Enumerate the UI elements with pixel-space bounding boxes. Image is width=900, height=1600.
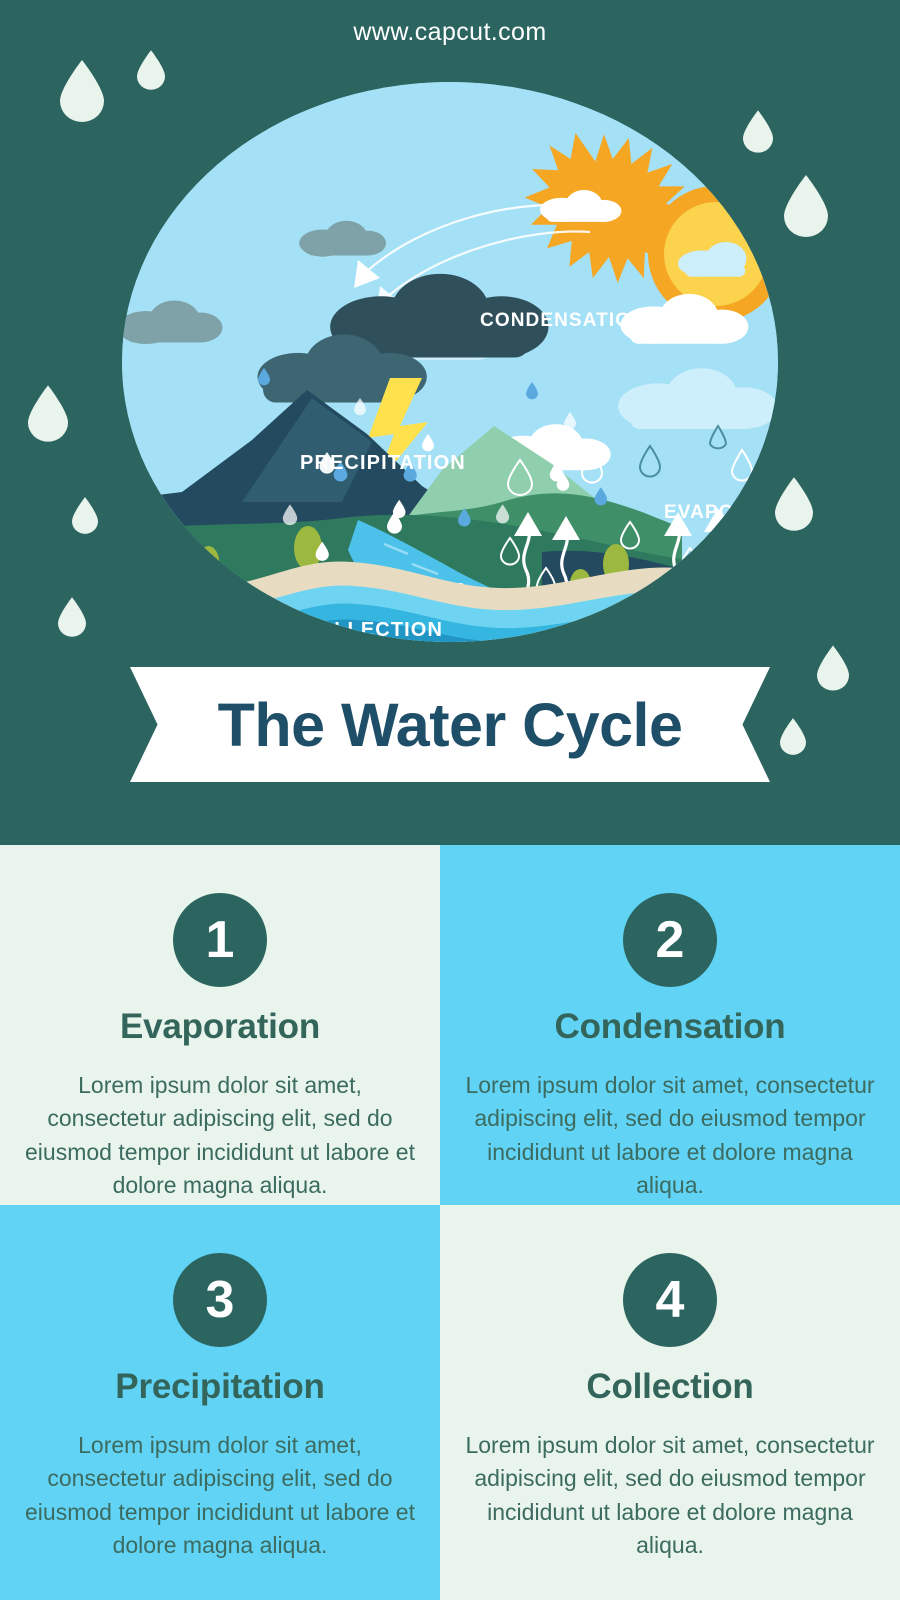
decorative-drop-icon bbox=[743, 110, 773, 153]
step-title: Evaporation bbox=[22, 1007, 418, 1047]
hero-section: www.capcut.com bbox=[0, 0, 900, 845]
scene-label-evaporation: EVAPORATION bbox=[664, 502, 778, 524]
decorative-drop-icon bbox=[775, 477, 813, 531]
step-title: Condensation bbox=[462, 1007, 878, 1047]
step-card-collection: 4 Collection Lorem ipsum dolor sit amet,… bbox=[440, 1205, 900, 1600]
step-description: Lorem ipsum dolor sit amet, consectetur … bbox=[462, 1069, 878, 1202]
step-number-badge: 2 bbox=[623, 893, 717, 987]
step-number-badge: 4 bbox=[623, 1253, 717, 1347]
decorative-drop-icon bbox=[58, 597, 86, 637]
page-title: The Water Cycle bbox=[130, 667, 770, 782]
decorative-drop-icon bbox=[817, 645, 849, 691]
step-card-evaporation: 1 Evaporation Lorem ipsum dolor sit amet… bbox=[0, 845, 440, 1205]
scene-label-collection: COLLECTION bbox=[302, 619, 443, 642]
steps-grid: 1 Evaporation Lorem ipsum dolor sit amet… bbox=[0, 845, 900, 1600]
decorative-drop-icon bbox=[60, 60, 104, 122]
step-number-badge: 3 bbox=[173, 1253, 267, 1347]
scene-label-condensation: CONDENSATION bbox=[480, 310, 646, 332]
decorative-drop-icon bbox=[780, 718, 806, 755]
scene-label-precipitation: PRECIPITATION bbox=[300, 452, 466, 475]
step-title: Collection bbox=[462, 1367, 878, 1407]
step-description: Lorem ipsum dolor sit amet, consectetur … bbox=[22, 1429, 418, 1562]
step-title: Precipitation bbox=[22, 1367, 418, 1407]
left-hill-shape bbox=[122, 512, 162, 642]
infographic-page: www.capcut.com bbox=[0, 0, 900, 1600]
scene-svg bbox=[122, 82, 778, 642]
water-cycle-illustration: CONDENSATION PRECIPITATION EVAPORATION C… bbox=[122, 82, 778, 642]
decorative-drop-icon bbox=[72, 497, 98, 534]
decorative-drop-icon bbox=[784, 175, 828, 237]
decorative-drop-icon bbox=[137, 50, 165, 90]
title-banner: The Water Cycle bbox=[130, 667, 770, 782]
step-number-badge: 1 bbox=[173, 893, 267, 987]
step-description: Lorem ipsum dolor sit amet, consectetur … bbox=[462, 1429, 878, 1562]
site-url-label: www.capcut.com bbox=[0, 18, 900, 47]
step-card-condensation: 2 Condensation Lorem ipsum dolor sit ame… bbox=[440, 845, 900, 1205]
step-description: Lorem ipsum dolor sit amet, consectetur … bbox=[22, 1069, 418, 1202]
step-card-precipitation: 3 Precipitation Lorem ipsum dolor sit am… bbox=[0, 1205, 440, 1600]
decorative-drop-icon bbox=[28, 385, 68, 442]
